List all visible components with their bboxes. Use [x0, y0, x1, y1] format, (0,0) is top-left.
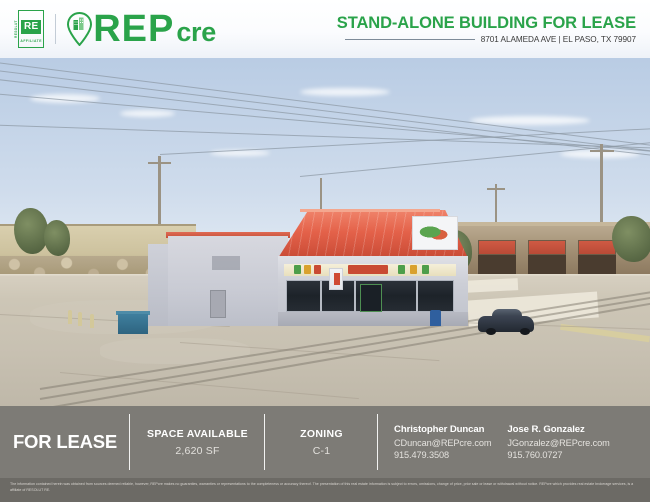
space-available-label: SPACE AVAILABLE: [147, 428, 248, 440]
building-entry-door: [360, 284, 382, 312]
property-address: 8701 ALAMEDA AVE | EL PASO, TX 79907: [481, 35, 636, 44]
sign-letter: [348, 265, 388, 274]
contact-phone[interactable]: 915.479.3508: [394, 450, 491, 460]
cloud: [120, 110, 175, 117]
lease-flyer: RESOLUT RE AFFILIATE: [0, 0, 650, 502]
resolut-affiliate-badge: RESOLUT RE AFFILIATE: [14, 10, 44, 48]
brand-logo-zone[interactable]: RESOLUT RE AFFILIATE: [0, 10, 216, 48]
badge-vertical-label: RESOLUT: [14, 10, 18, 48]
bollard: [90, 314, 94, 328]
building-side-window: [212, 256, 240, 270]
flyer-header: RESOLUT RE AFFILIATE: [0, 0, 650, 58]
sign-letter: [294, 265, 301, 274]
cloud: [300, 88, 390, 96]
window-mullion: [416, 280, 418, 312]
sign-letter: [304, 265, 311, 274]
space-available-value: 2,620 SF: [175, 445, 219, 457]
window-mullion: [320, 280, 322, 312]
mailbox: [430, 310, 441, 326]
contact-email[interactable]: JGonzalez@REPcre.com: [507, 438, 609, 448]
bollard: [68, 310, 72, 324]
service-bay: [578, 240, 616, 255]
contact-email[interactable]: CDuncan@REPcre.com: [394, 438, 491, 448]
logo-divider: [55, 14, 56, 44]
zoning-label: ZONING: [300, 428, 343, 440]
property-photo: [0, 58, 650, 406]
header-title-block: STAND-ALONE BUILDING FOR LEASE 8701 ALAM…: [337, 14, 650, 44]
service-bay-opening: [578, 255, 616, 274]
tree: [612, 216, 650, 262]
service-bay: [478, 240, 516, 255]
for-lease-block: FOR LEASE: [0, 406, 130, 478]
address-row: 8701 ALAMEDA AVE | EL PASO, TX 79907: [337, 35, 636, 44]
repcre-wordmark: REP cre: [93, 10, 216, 48]
wordmark-cre: cre: [176, 19, 216, 46]
contact-name: Jose R. Gonzalez: [507, 424, 609, 435]
disclaimer-text: The information contained herein was obt…: [10, 482, 640, 493]
building-left-wall: [168, 236, 288, 326]
sign-letter: [314, 265, 321, 274]
sign-letter: [398, 265, 405, 274]
page-title: STAND-ALONE BUILDING FOR LEASE: [337, 14, 636, 32]
title-rule: [345, 39, 475, 40]
pole-crossarm: [487, 188, 505, 190]
contacts-block: Christopher Duncan CDuncan@REPcre.com 91…: [378, 406, 650, 478]
contacts-list: Christopher Duncan CDuncan@REPcre.com 91…: [390, 424, 610, 460]
car-wheel: [520, 328, 530, 335]
badge-box: RE AFFILIATE: [18, 10, 44, 48]
map-pin-building-icon: [67, 12, 92, 46]
service-bay-opening: [478, 255, 516, 274]
service-bay: [528, 240, 566, 255]
window-mullion: [354, 280, 356, 312]
repcre-logo[interactable]: REP cre: [67, 10, 216, 48]
tree: [14, 208, 48, 254]
bollard: [78, 312, 82, 326]
building-roof-ridge: [300, 209, 440, 212]
building-pylon-sign: [412, 216, 458, 250]
car-wheel: [486, 328, 496, 335]
building-service-door: [210, 290, 226, 318]
contact-card[interactable]: Christopher Duncan CDuncan@REPcre.com 91…: [394, 424, 491, 460]
subject-building: [148, 198, 478, 328]
contact-name: Christopher Duncan: [394, 424, 491, 435]
contact-card[interactable]: Jose R. Gonzalez JGonzalez@REPcre.com 91…: [507, 424, 609, 460]
pole-crossarm: [148, 162, 171, 164]
disclaimer-bar: The information contained herein was obt…: [0, 478, 650, 502]
for-lease-label: FOR LEASE: [13, 431, 117, 453]
zoning-value: C-1: [313, 445, 331, 457]
pavement-crack: [60, 372, 359, 399]
space-available-block: SPACE AVAILABLE 2,620 SF: [130, 406, 265, 478]
sign-letter: [422, 265, 429, 274]
contact-phone[interactable]: 915.760.0727: [507, 450, 609, 460]
service-bay-opening: [528, 255, 566, 274]
badge-re-mark: RE: [21, 20, 42, 34]
dumpster: [118, 314, 148, 334]
property-summary-bar: FOR LEASE SPACE AVAILABLE 2,620 SF ZONIN…: [0, 406, 650, 478]
wordmark-rep: REP: [93, 10, 174, 48]
zoning-block: ZONING C-1: [265, 406, 378, 478]
tree: [44, 220, 70, 256]
pole-crossarm: [590, 150, 614, 152]
sign-letter: [410, 265, 417, 274]
badge-affiliate-label: AFFILIATE: [20, 40, 42, 43]
facade-panel: [329, 268, 343, 290]
pylon-sign-art: [419, 223, 451, 243]
